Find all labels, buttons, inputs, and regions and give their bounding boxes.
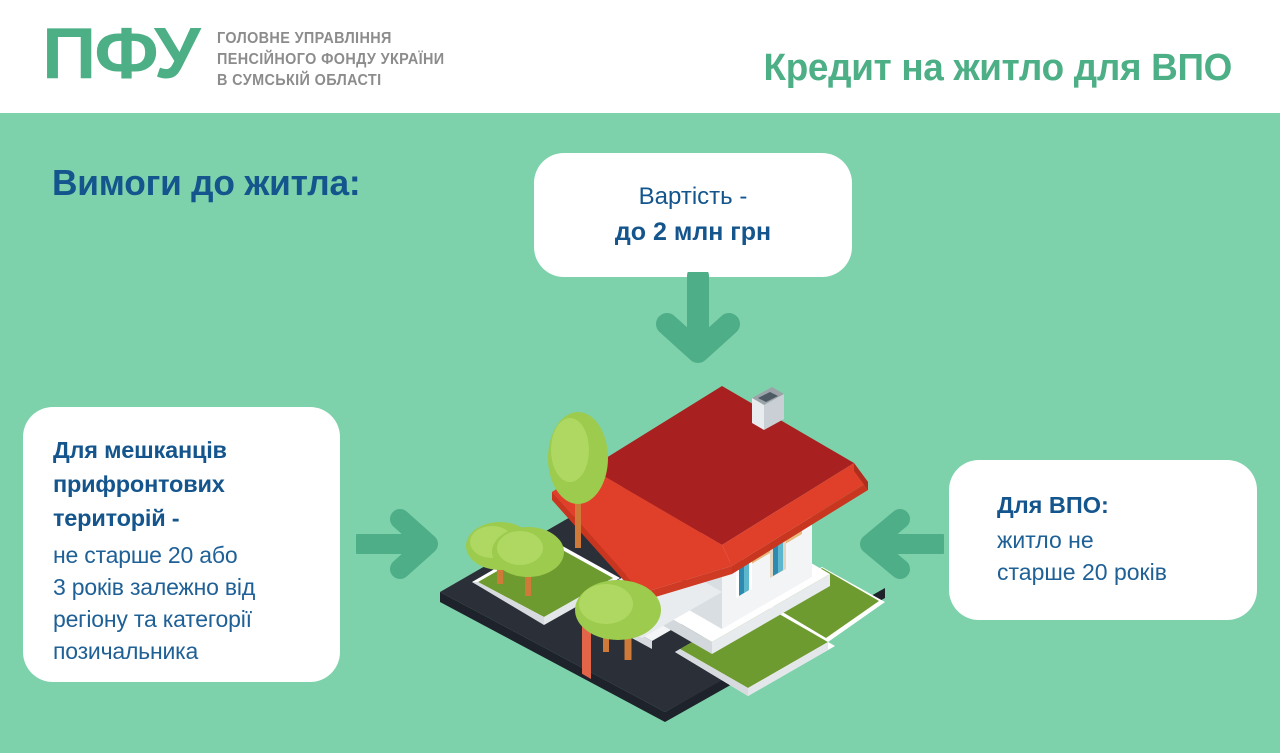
logo-subtitle-line-1: ГОЛОВНЕ УПРАВЛІННЯ: [217, 28, 445, 49]
logo-subtitle-line-2: ПЕНСІЙНОГО ФОНДУ УКРАЇНИ: [217, 49, 445, 70]
arrow-down-icon: [655, 272, 741, 369]
page-title: Кредит на житло для ВПО: [763, 46, 1232, 90]
card-frontline-body: не старше 20 або 3 років залежно від рег…: [53, 539, 310, 667]
infographic-page: ПФУ ГОЛОВНЕ УПРАВЛІННЯ ПЕНСІЙНОГО ФОНДУ …: [0, 0, 1280, 753]
card-idp: Для ВПО: житло не старше 20 років: [949, 460, 1257, 620]
house-illustration: [430, 370, 900, 730]
card-frontline-residents: Для мешканців прифронтових територій - н…: [23, 407, 340, 682]
card-idp-body: житло не старше 20 років: [997, 524, 1257, 588]
card-frontline-heading: Для мешканців прифронтових територій -: [53, 433, 310, 535]
arrow-right-icon: [356, 508, 440, 585]
pfu-logo-mark: ПФУ: [42, 16, 199, 92]
pfu-logo-subtitle: ГОЛОВНЕ УПРАВЛІННЯ ПЕНСІЙНОГО ФОНДУ УКРА…: [217, 28, 445, 91]
card-cost-value: до 2 млн грн: [615, 215, 771, 249]
card-idp-heading: Для ВПО:: [997, 488, 1257, 522]
section-heading: Вимоги до житла:: [52, 161, 360, 205]
card-cost-label: Вартість -: [639, 181, 748, 213]
card-cost: Вартість - до 2 млн грн: [534, 153, 852, 277]
page-header: ПФУ ГОЛОВНЕ УПРАВЛІННЯ ПЕНСІЙНОГО ФОНДУ …: [0, 0, 1280, 113]
logo-subtitle-line-3: В СУМСЬКІЙ ОБЛАСТІ: [217, 70, 445, 91]
pfu-logo: ПФУ ГОЛОВНЕ УПРАВЛІННЯ ПЕНСІЙНОГО ФОНДУ …: [42, 16, 462, 92]
